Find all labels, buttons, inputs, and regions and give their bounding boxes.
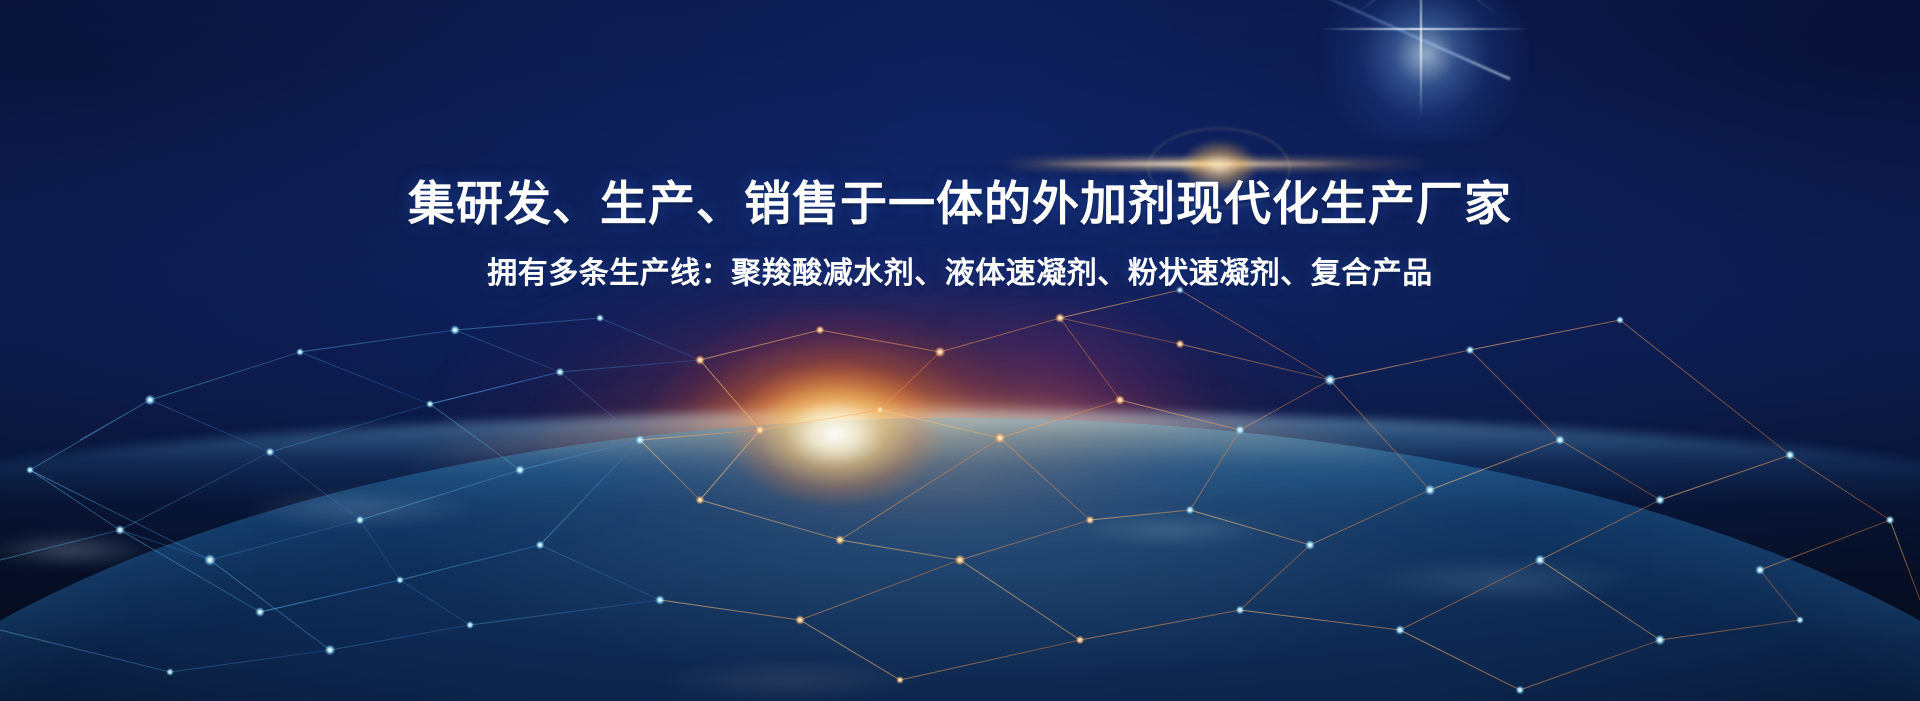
banner-copy: 集研发、生产、销售于一体的外加剂现代化生产厂家 拥有多条生产线：聚羧酸减水剂、液… — [0, 176, 1920, 293]
hero-banner: 集研发、生产、销售于一体的外加剂现代化生产厂家 拥有多条生产线：聚羧酸减水剂、液… — [0, 0, 1920, 701]
page-title: 集研发、生产、销售于一体的外加剂现代化生产厂家 — [0, 176, 1920, 232]
page-subtitle: 拥有多条生产线：聚羧酸减水剂、液体速凝剂、粉状速凝剂、复合产品 — [0, 255, 1920, 293]
network-mesh-icon — [0, 0, 1920, 701]
